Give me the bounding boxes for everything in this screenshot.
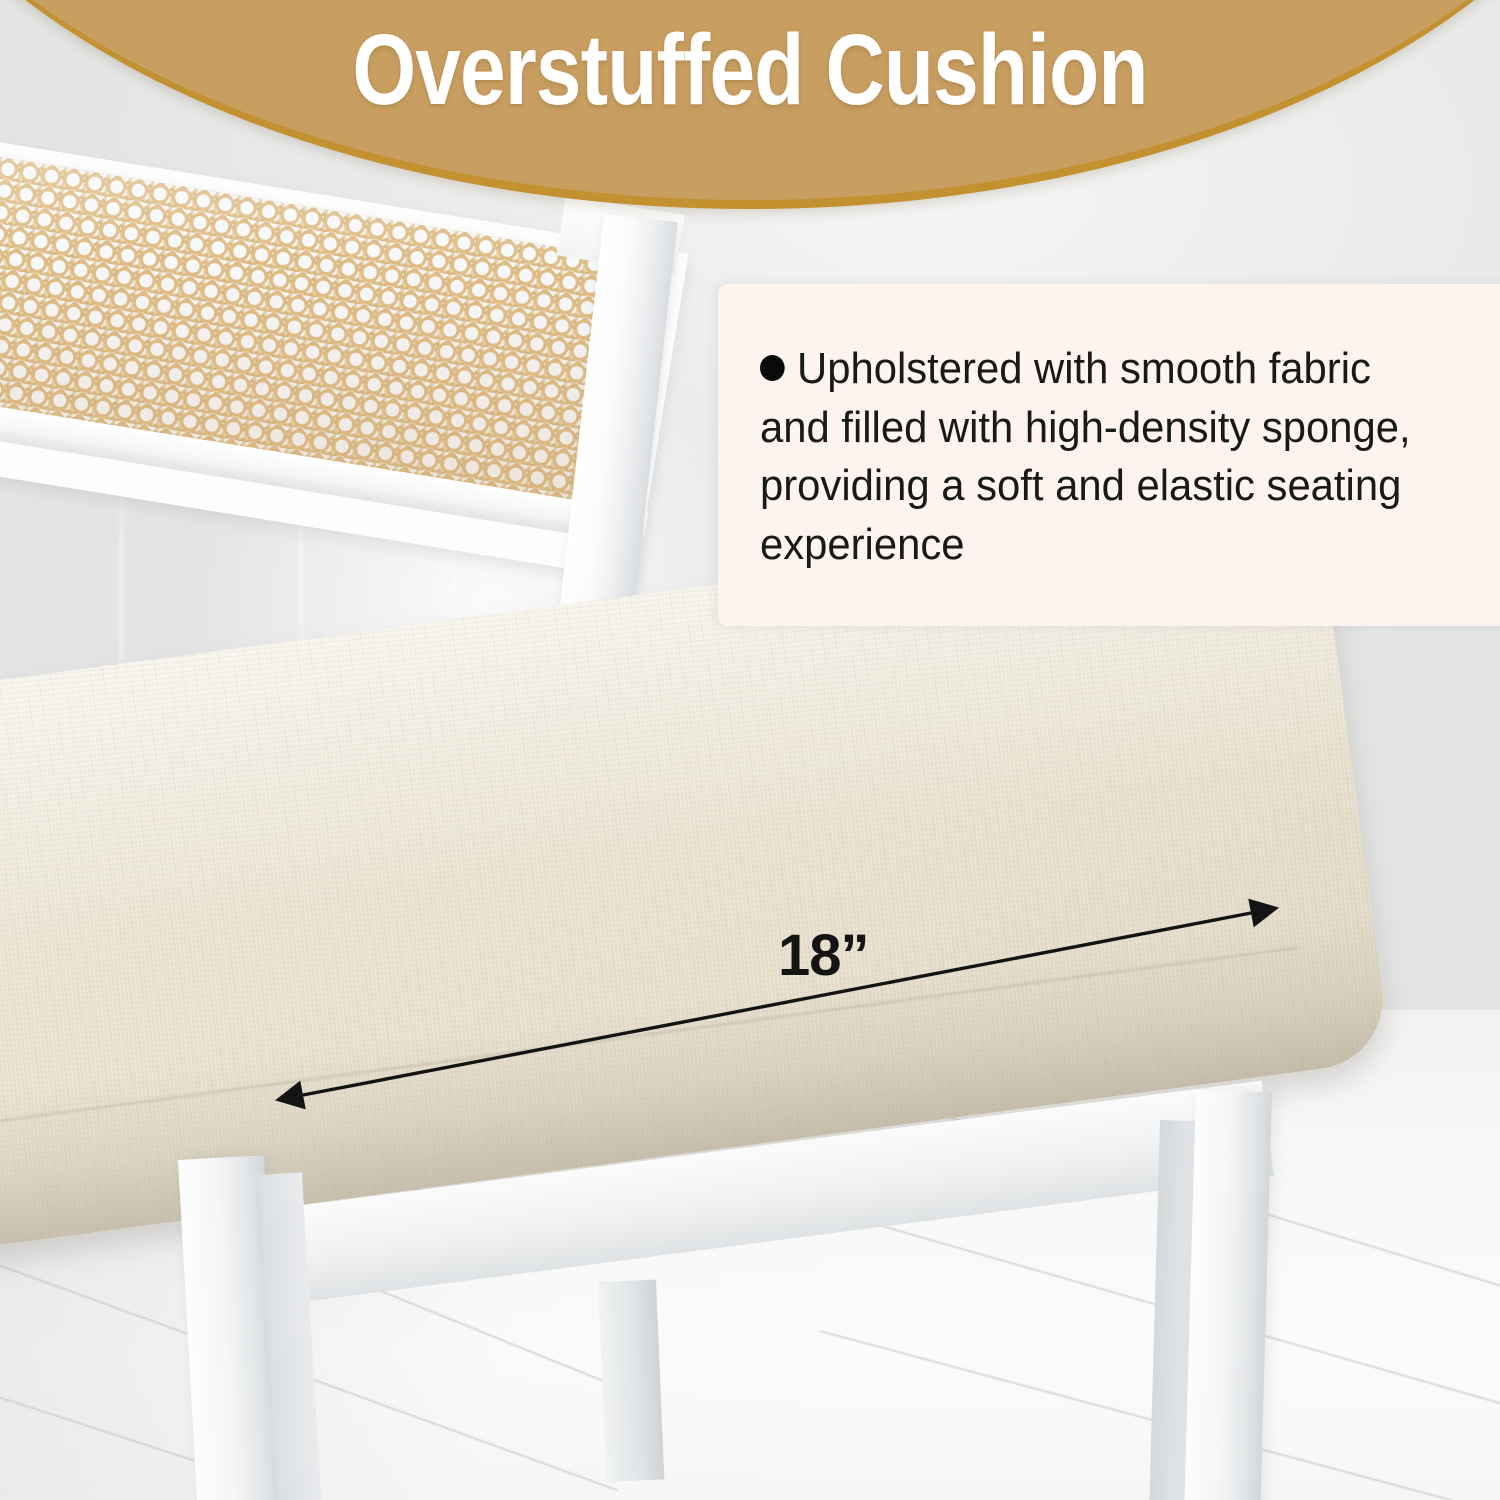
- chair-leg-front-right: [1184, 1090, 1272, 1500]
- feature-callout-text-row: Upholstered with smooth fabric and fille…: [760, 340, 1425, 574]
- banner-title: Overstuffed Cushion: [4, 20, 1496, 120]
- feature-callout-box: Upholstered with smooth fabric and fille…: [718, 284, 1500, 626]
- dimension-label: 18”: [778, 922, 869, 989]
- feature-callout-text: Upholstered with smooth fabric and fille…: [760, 344, 1411, 569]
- chair-leg-rear: [598, 1280, 664, 1482]
- bullet-dot-icon: [760, 355, 785, 381]
- product-image: 18” Overstuffed Cushion Upholstered with…: [0, 0, 1500, 1500]
